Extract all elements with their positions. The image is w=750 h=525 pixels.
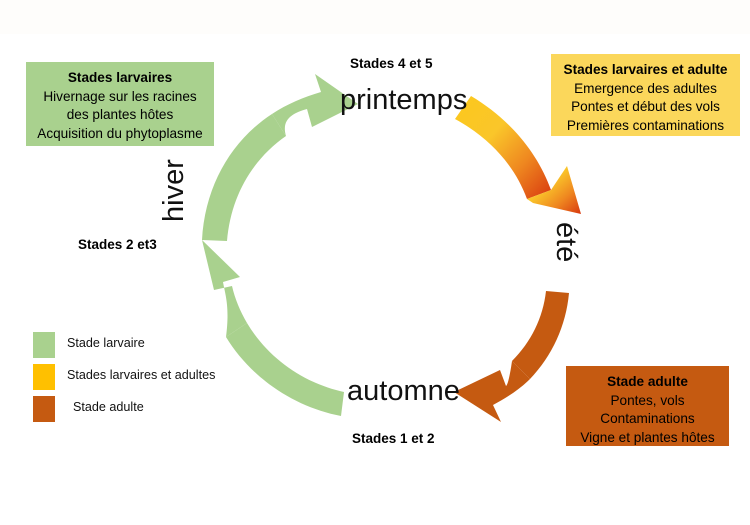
legend-item-adult: Stade adulte	[33, 396, 233, 422]
info-box-title: Stades larvaires	[34, 69, 206, 87]
legend-swatch-yellow	[33, 364, 55, 390]
legend-item-larval-and-adult: Stades larvaires et adultes	[33, 364, 233, 390]
stage-label-top: Stades 4 et 5	[350, 57, 433, 71]
arrow-ete-to-automne	[454, 291, 569, 422]
legend-label: Stades larvaires et adultes	[67, 364, 215, 383]
stage-label-bottom: Stades 1 et 2	[352, 432, 435, 446]
info-box-adult-stage: Stade adulte Pontes, vols Contaminations…	[566, 366, 729, 446]
info-box-line: Pontes, vols	[574, 392, 721, 410]
season-label-automne: automne	[347, 377, 460, 406]
info-box-line: Contaminations	[574, 410, 721, 428]
info-box-title: Stades larvaires et adulte	[559, 61, 732, 79]
legend-swatch-orange	[33, 396, 55, 422]
info-box-larval-stages: Stades larvaires Hivernage sur les racin…	[26, 62, 214, 146]
diagram-canvas: printemps été automne hiver Stades 4 et …	[0, 0, 750, 525]
season-label-printemps: printemps	[340, 86, 467, 115]
info-box-line: Hivernage sur les racines	[34, 88, 206, 106]
info-box-line: Emergence des adultes	[559, 80, 732, 98]
legend-item-larval: Stade larvaire	[33, 332, 233, 358]
season-label-ete: été	[551, 222, 580, 262]
info-box-line: Pontes et début des vols	[559, 98, 732, 116]
legend-swatch-green	[33, 332, 55, 358]
legend-label: Stade adulte	[67, 396, 144, 415]
legend-label: Stade larvaire	[67, 332, 145, 351]
info-box-title: Stade adulte	[574, 373, 721, 391]
stage-label-left: Stades 2 et3	[78, 238, 157, 252]
info-box-line: Premières contaminations	[559, 117, 732, 135]
season-label-hiver: hiver	[160, 159, 189, 222]
info-box-line: des plantes hôtes	[34, 106, 206, 124]
arrow-hiver-to-printemps	[202, 74, 358, 241]
legend: Stade larvaire Stades larvaires et adult…	[33, 332, 233, 428]
info-box-line: Vigne et plantes hôtes	[574, 429, 721, 447]
info-box-line: Acquisition du phytoplasme	[34, 125, 206, 143]
info-box-larval-and-adult-stages: Stades larvaires et adulte Emergence des…	[551, 54, 740, 136]
